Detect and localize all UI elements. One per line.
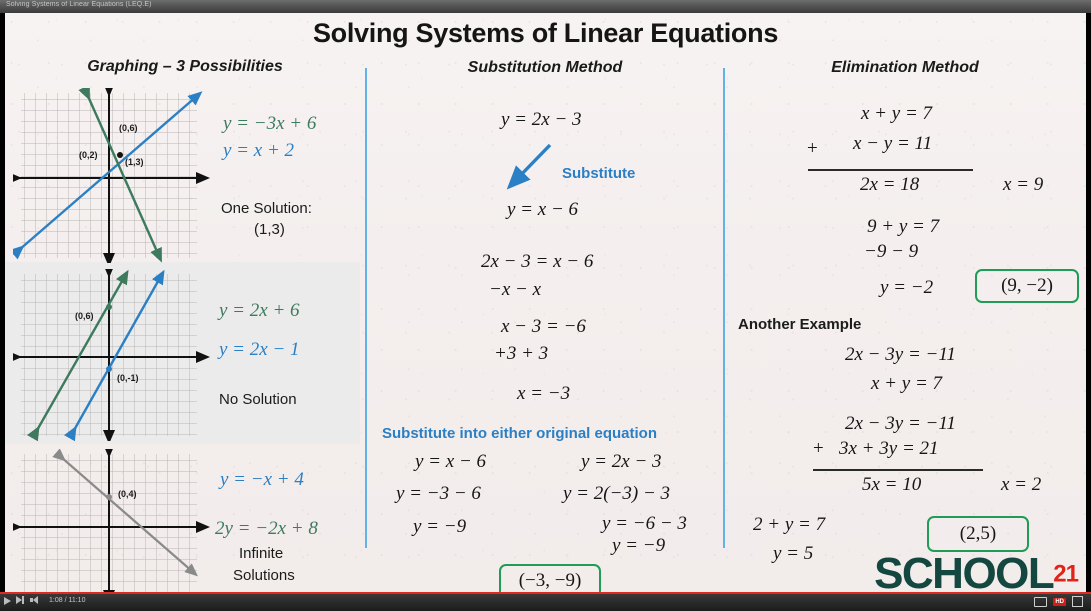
substitution-answer-box: (−3, −9) [499, 564, 601, 593]
player-left-controls: 1:08 / 11:10 [4, 596, 85, 605]
elim1-line1: x + y = 7 [861, 103, 932, 125]
elim1-rule [808, 169, 973, 171]
window-title: Solving Systems of Linear Equations (LEQ… [6, 1, 152, 8]
logo-sup-text: 21 [1053, 561, 1078, 588]
window-titlebar: Solving Systems of Linear Equations (LEQ… [0, 0, 1091, 13]
graph-infinite-solutions: (0,4) [13, 449, 213, 593]
school21-logo: SCHOOL21 [874, 549, 1078, 593]
substitute-label: Substitute [562, 165, 635, 182]
volume-icon[interactable] [30, 596, 40, 605]
sub-check-left-1: y = x − 6 [415, 451, 486, 473]
point-label-0-6: (0,6) [119, 123, 138, 133]
sub-step-4: +3 + 3 [494, 343, 548, 365]
sub-check-left-3: y = −9 [413, 516, 466, 538]
graph-one-result-line1: One Solution: [221, 200, 312, 217]
elim2-solved-x: x = 2 [1001, 474, 1041, 496]
elim2-given2: x + y = 7 [871, 373, 942, 395]
elim2-sub1: 2 + y = 7 [753, 514, 825, 536]
elimination-answer-box-2: (2,5) [927, 516, 1029, 552]
logo-main-text: SCHOOL [874, 549, 1053, 593]
elim2-work2: 3x + 3y = 21 [839, 438, 939, 460]
elimination-answer-box-1: (9, −2) [975, 269, 1079, 303]
graph-three-eq2: 2y = −2x + 8 [215, 518, 318, 540]
sub-check-right-4: y = −9 [612, 535, 665, 557]
graph-one-result-line2: (1,3) [254, 221, 285, 238]
substitute-arrow [505, 141, 565, 191]
heading-elimination: Elimination Method [735, 59, 1075, 77]
point-label-0-4: (0,4) [118, 489, 137, 499]
sub-check-left-2: y = −3 − 6 [396, 483, 481, 505]
graph-no-solution: (0,6) (0,-1) [13, 269, 213, 441]
graph-three-svg [13, 449, 213, 593]
hd-badge[interactable]: HD [1053, 598, 1066, 606]
point-label-0-6b: (0,6) [75, 311, 94, 321]
elim2-solved-y: y = 5 [773, 543, 813, 565]
next-icon[interactable] [16, 596, 25, 605]
graph-one-svg [13, 88, 213, 263]
sub-eq-second: y = x − 6 [507, 199, 578, 221]
point-label-1-3: (1,3) [125, 157, 144, 167]
elim2-rule [813, 469, 983, 471]
graph-two-svg [13, 269, 213, 441]
divider-right [723, 68, 725, 548]
sub-step-2: −x − x [489, 279, 541, 301]
elim1-sub1: 9 + y = 7 [867, 216, 939, 238]
graph-one-solution: (0,6) (0,2) (1,3) [13, 88, 213, 263]
elim1-solved-x: x = 9 [1003, 174, 1043, 196]
graph-three-result-line1: Infinite [239, 545, 283, 562]
point-label-0-2: (0,2) [79, 150, 98, 160]
elim1-solved-y: y = −2 [880, 277, 933, 299]
elim1-sub2: −9 − 9 [864, 241, 918, 263]
letterbox-right [1086, 13, 1091, 593]
sub-step-3: x − 3 = −6 [501, 316, 586, 338]
sub-check-right-1: y = 2x − 3 [581, 451, 662, 473]
player-control-bar[interactable]: 1:08 / 11:10 HD [0, 592, 1091, 611]
play-icon[interactable] [4, 597, 11, 605]
graph-two-eq2: y = 2x − 1 [219, 339, 300, 361]
heading-substitution: Substitution Method [375, 59, 715, 77]
divider-left [365, 68, 367, 548]
point-label-0-neg1: (0,-1) [117, 373, 139, 383]
graph-three-result-line2: Solutions [233, 567, 295, 584]
elim1-line2: x − y = 11 [853, 133, 932, 155]
sub-check-right-2: y = 2(−3) − 3 [563, 483, 670, 505]
elim2-work1: 2x − 3y = −11 [845, 413, 956, 435]
progress-bar[interactable] [0, 592, 1091, 594]
captions-icon[interactable] [1034, 597, 1047, 607]
graph-one-eq1: y = −3x + 6 [223, 113, 316, 135]
player-right-controls: HD [1034, 596, 1083, 607]
elim2-given1: 2x − 3y = −11 [845, 344, 956, 366]
letterbox-left [0, 13, 5, 593]
sub-step-5: x = −3 [517, 383, 570, 405]
elim1-sum: 2x = 18 [860, 174, 919, 196]
elim2-plus: + [813, 438, 824, 460]
slide-canvas: Solving Systems of Linear Equations Grap… [5, 13, 1086, 593]
elim2-sum: 5x = 10 [862, 474, 921, 496]
timecode-label: 1:08 / 11:10 [49, 597, 85, 604]
fullscreen-icon[interactable] [1072, 596, 1083, 607]
substitute-check-heading: Substitute into either original equation [382, 425, 657, 442]
page-title: Solving Systems of Linear Equations [5, 18, 1086, 49]
graph-one-eq2: y = x + 2 [223, 140, 294, 162]
another-example-label: Another Example [738, 316, 861, 333]
elim1-plus: + [807, 138, 818, 160]
progress-fill [0, 592, 1091, 594]
sub-eq-top: y = 2x − 3 [501, 109, 582, 131]
graph-three-eq1: y = −x + 4 [220, 469, 304, 491]
graph-two-eq1: y = 2x + 6 [219, 300, 300, 322]
video-player: Solving Systems of Linear Equations (LEQ… [0, 0, 1091, 611]
graph-two-result: No Solution [219, 391, 297, 408]
heading-graphing: Graphing – 3 Possibilities [15, 58, 355, 76]
sub-check-right-3: y = −6 − 3 [602, 513, 687, 535]
sub-step-1: 2x − 3 = x − 6 [481, 251, 593, 273]
